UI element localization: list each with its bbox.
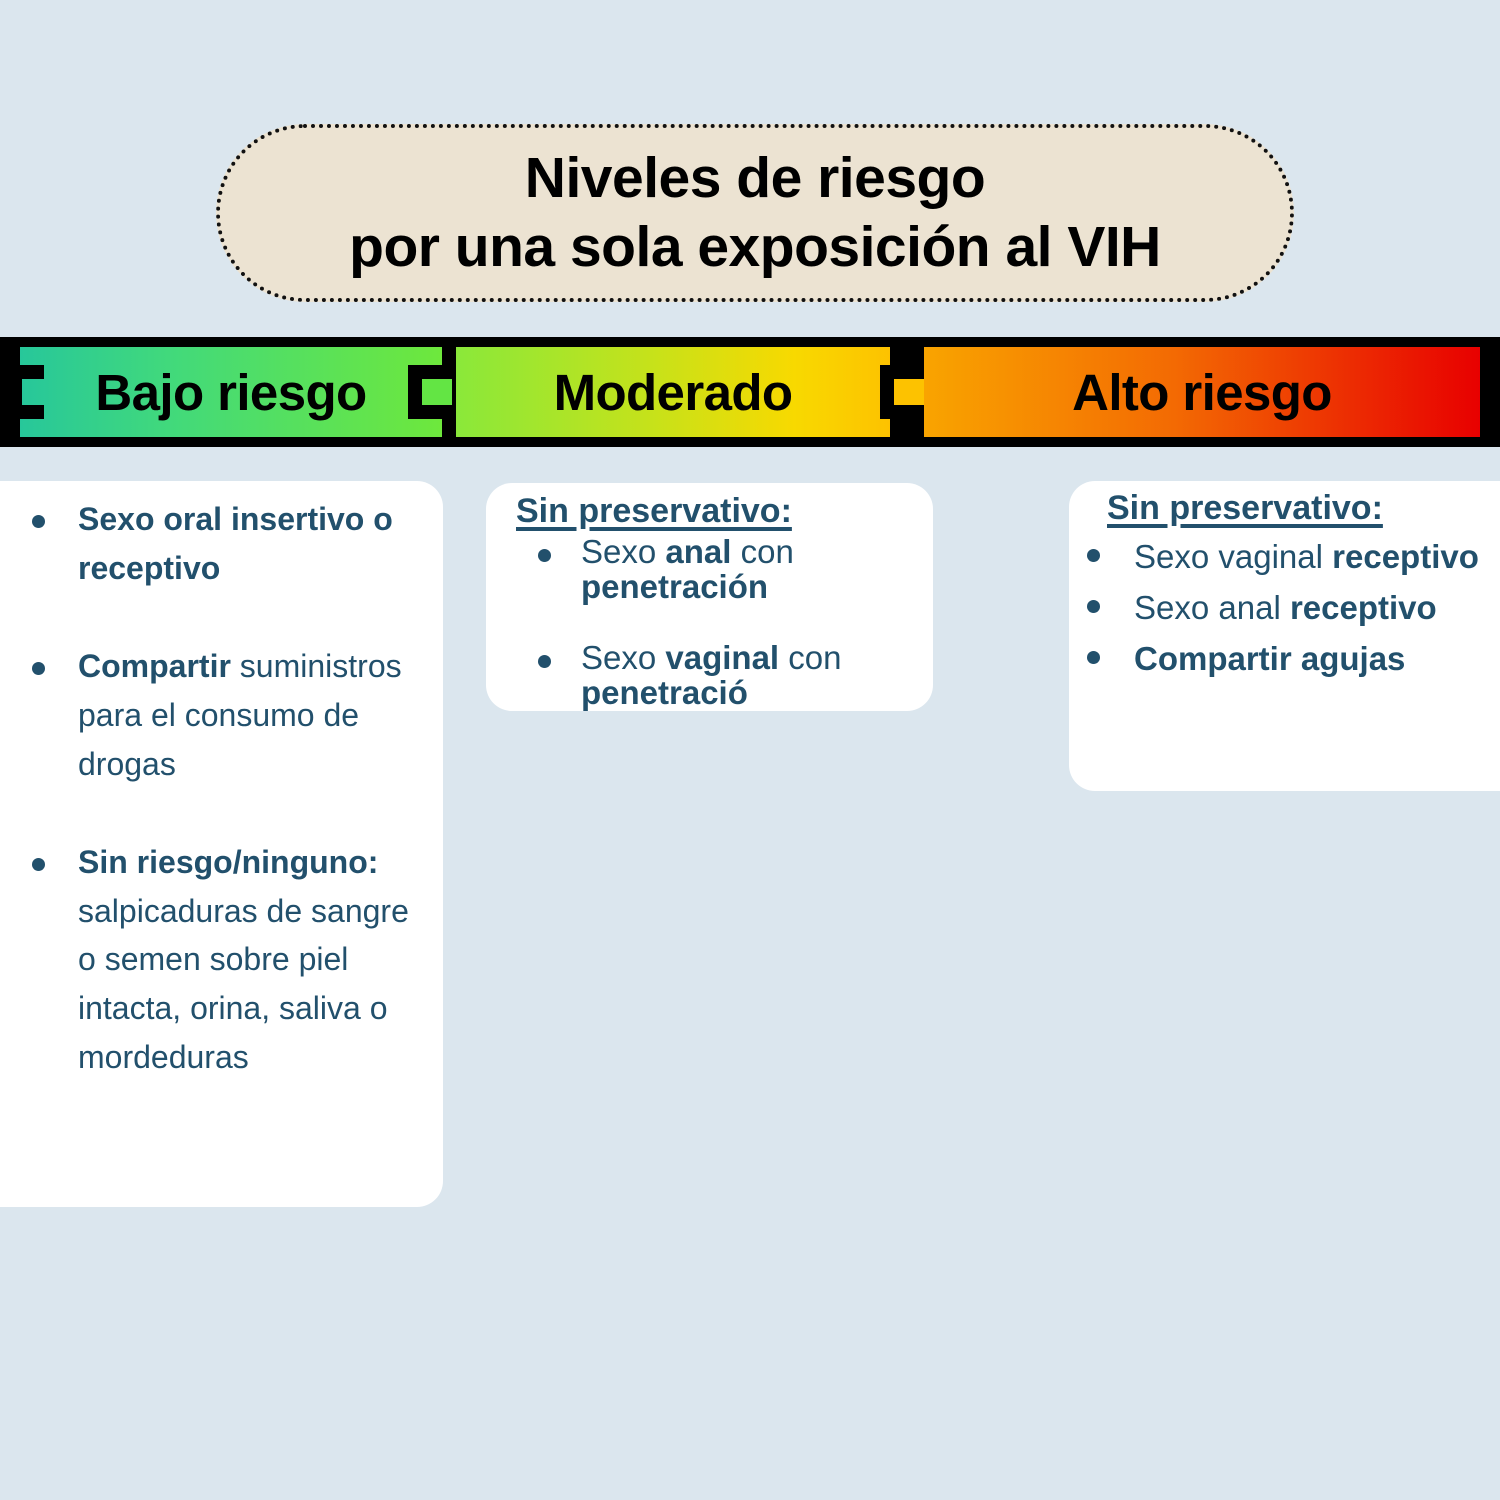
moderate-card-heading: Sin preservativo: — [516, 492, 792, 531]
risk-segment-moderado-label: Moderado — [554, 363, 793, 422]
risk-segment-moderado: Moderado — [456, 347, 890, 437]
mod-item-0-pre: Sexo — [581, 533, 665, 570]
list-item: Compartir agujas — [1079, 635, 1500, 684]
high-risk-list: Sexo vaginal receptivo Sexo anal recepti… — [1079, 533, 1500, 685]
bracket-notch-divider-2-icon — [880, 365, 916, 419]
risk-segment-bajo-label: Bajo riesgo — [95, 363, 366, 422]
mod-item-0-post: con — [731, 533, 793, 570]
moderate-risk-list: Sexo anal con penetración Sexo vaginal c… — [536, 535, 926, 747]
low-item-2-bold: Sin riesgo/ninguno: — [78, 844, 378, 880]
high-item-1-bold: receptivo — [1290, 589, 1437, 626]
list-item: Sexo vaginal receptivo — [1079, 533, 1500, 582]
list-item: Compartir suministros para el consumo de… — [30, 642, 430, 788]
moderate-risk-card: Sin preservativo: Sexo anal con penetrac… — [486, 483, 933, 711]
high-item-0-pre: Sexo vaginal — [1134, 538, 1332, 575]
high-risk-card: Sin preservativo: Sexo vaginal receptivo… — [1069, 481, 1500, 791]
list-item: Sexo anal con penetración — [536, 535, 926, 605]
bracket-notch-start-icon — [8, 365, 44, 419]
list-item: Sexo anal receptivo — [1079, 584, 1500, 633]
risk-segment-alto: Alto riesgo — [924, 347, 1480, 437]
risk-segment-bajo: Bajo riesgo — [20, 347, 442, 437]
high-item-1-pre: Sexo anal — [1134, 589, 1290, 626]
risk-level-bar: Bajo riesgo Moderado Alto riesgo — [0, 337, 1500, 447]
page-title-line1: Niveles de riesgo — [525, 145, 985, 212]
mod-item-1-post: con — [779, 639, 841, 676]
low-item-1-bold: Compartir — [78, 648, 240, 684]
mod-item-0-bold2: penetración — [581, 568, 768, 605]
low-item-0-bold: Sexo oral insertivo o receptivo — [78, 501, 393, 586]
high-item-2-bold: Compartir agujas — [1134, 640, 1405, 677]
low-risk-card: Sexo oral insertivo o receptivo Comparti… — [0, 481, 443, 1207]
high-card-heading: Sin preservativo: — [1107, 489, 1383, 528]
title-banner: Niveles de riesgo por una sola exposició… — [216, 124, 1294, 302]
page-title-line2: por una sola exposición al VIH — [349, 214, 1161, 281]
mod-item-1-bold: vaginal — [665, 639, 779, 676]
mod-item-0-bold: anal — [665, 533, 731, 570]
list-item: Sexo oral insertivo o receptivo — [30, 495, 430, 592]
mod-item-1-pre: Sexo — [581, 639, 665, 676]
risk-segment-alto-label: Alto riesgo — [1072, 363, 1332, 422]
bracket-notch-divider-1-icon — [408, 365, 444, 419]
list-item: Sin riesgo/ninguno: salpicaduras de sang… — [30, 838, 430, 1081]
high-item-0-bold: receptivo — [1332, 538, 1479, 575]
low-item-2-plain: salpicaduras de sangre o semen sobre pie… — [78, 893, 409, 1075]
mod-item-1-bold2: penetració — [581, 674, 748, 711]
list-item: Sexo vaginal con penetració — [536, 641, 926, 711]
low-risk-list: Sexo oral insertivo o receptivo Comparti… — [30, 495, 430, 1131]
